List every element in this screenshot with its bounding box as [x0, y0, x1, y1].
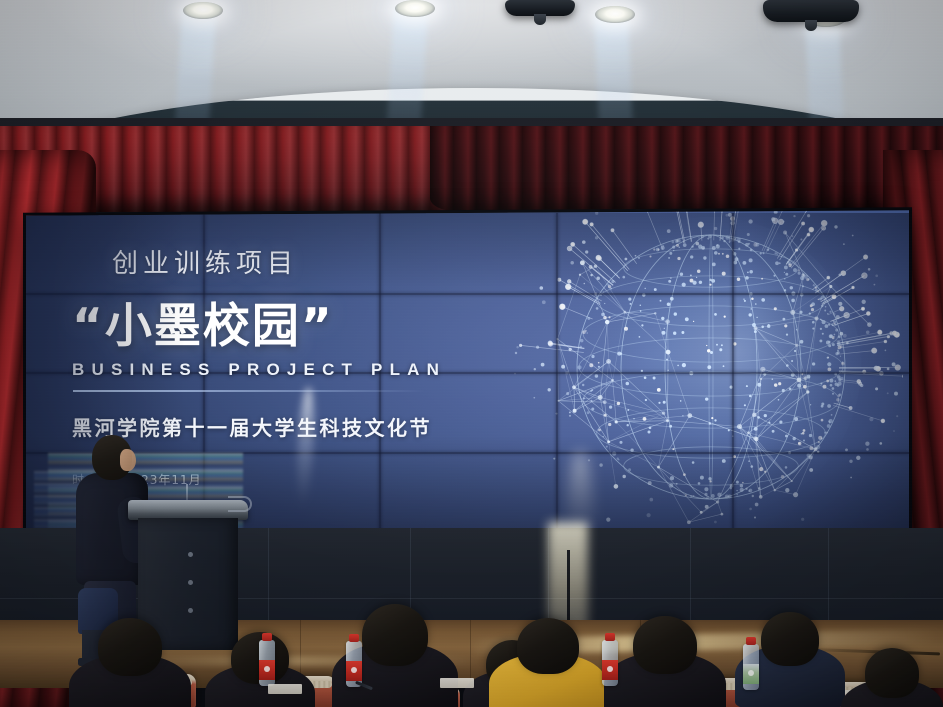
bottle-cap — [746, 637, 756, 645]
audience-member-7 — [761, 612, 819, 666]
bottle-label-mark — [748, 670, 754, 676]
paper-sheet — [440, 678, 474, 688]
bottle-cap — [605, 633, 615, 641]
water-bottle-4[interactable] — [743, 644, 759, 690]
bottle-label-mark — [264, 666, 270, 672]
audience-area — [0, 0, 943, 707]
bottle-label-mark — [351, 667, 357, 673]
bottle-cap — [262, 633, 272, 641]
audience-member-5 — [517, 618, 579, 674]
audience-member-8 — [865, 648, 919, 698]
water-bottle-3[interactable] — [602, 640, 618, 686]
paper-sheet — [268, 684, 302, 694]
audience-member-6 — [633, 616, 697, 674]
water-bottle-1[interactable] — [259, 640, 275, 686]
audience-member-3 — [362, 604, 428, 666]
auditorium-photo: 创业训练项目 “小墨校园” BUSINESS PROJECT PLAN 黑河学院… — [0, 0, 943, 707]
water-bottle-2[interactable] — [346, 641, 362, 687]
audience-member-1 — [98, 618, 162, 676]
bottle-label-mark — [607, 666, 613, 672]
bottle-cap — [349, 634, 359, 642]
